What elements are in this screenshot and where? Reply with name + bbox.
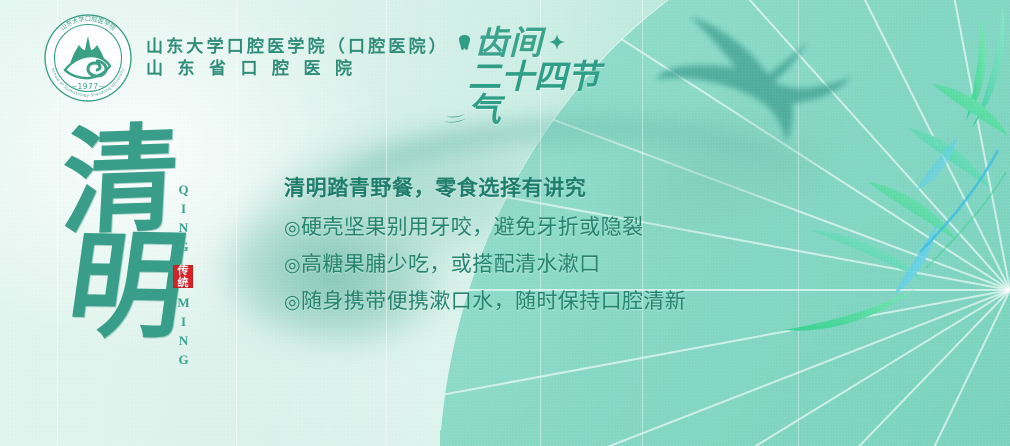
series-title-line1: 齿间 [475, 26, 543, 59]
traditional-seal-stamp: 传 统 [173, 265, 193, 288]
bullet-text-3: 随身携带便携漱口水，随时保持口腔清新 [301, 289, 686, 313]
brush-dash-icon [444, 111, 466, 121]
shandong-university-stomatology-emblem: —1977— 山东大学口腔医学院 School of Stomatology S… [42, 12, 134, 104]
pinyin-qing: QING [175, 182, 191, 258]
institution-name-line2: 山东省口腔医院 [146, 60, 449, 79]
series-title-block: 齿间 二十四节气 [444, 22, 624, 104]
institution-logo-block: —1977— 山东大学口腔医学院 School of Stomatology S… [42, 12, 449, 104]
bullet-marker-3: ◎ [284, 291, 301, 313]
copy-headline: 清明踏青野餐，零食选择有讲究 [284, 172, 804, 202]
main-copy-block: 清明踏青野餐，零食选择有讲究 ◎硬壳坚果别用牙咬，避免牙折或隐裂 ◎高糖果脯少吃… [284, 172, 804, 322]
bullet-marker-2: ◎ [284, 254, 301, 276]
bullet-marker-1: ◎ [284, 217, 301, 239]
emblem-year: —1977— [69, 82, 106, 91]
swallow-silhouette-icon [656, 8, 866, 168]
institution-name-line1: 山东大学口腔医学院（口腔医院） [146, 38, 449, 57]
bullet-text-1: 硬壳坚果别用牙咬，避免牙折或隐裂 [301, 215, 643, 239]
qingming-poster-banner: —1977— 山东大学口腔医学院 School of Stomatology S… [0, 0, 1010, 446]
pinyin-column: QING 传 统 MING [170, 182, 196, 348]
pinyin-ming: MING [175, 295, 191, 371]
series-title-line2: 二十四节气 [468, 60, 624, 126]
tooth-icon [458, 34, 471, 51]
copy-bullet-2: ◎高糖果脯少吃，或搭配清水漱口 [284, 248, 804, 278]
seal-char-1: 传 [178, 265, 189, 277]
institution-name: 山东大学口腔医学院（口腔医院） 山东省口腔医院 [146, 38, 449, 78]
seal-char-2: 统 [178, 277, 189, 289]
copy-bullet-3: ◎随身携带便携漱口水，随时保持口腔清新 [284, 285, 804, 315]
bullet-text-2: 高糖果脯少吃，或搭配清水漱口 [301, 252, 601, 276]
series-title-row2: 二十四节气 [444, 60, 624, 126]
copy-bullet-1: ◎硬壳坚果别用牙咬，避免牙折或隐裂 [284, 211, 804, 241]
sparkle-icon [549, 34, 565, 50]
series-title-row1: 齿间 [444, 22, 624, 62]
